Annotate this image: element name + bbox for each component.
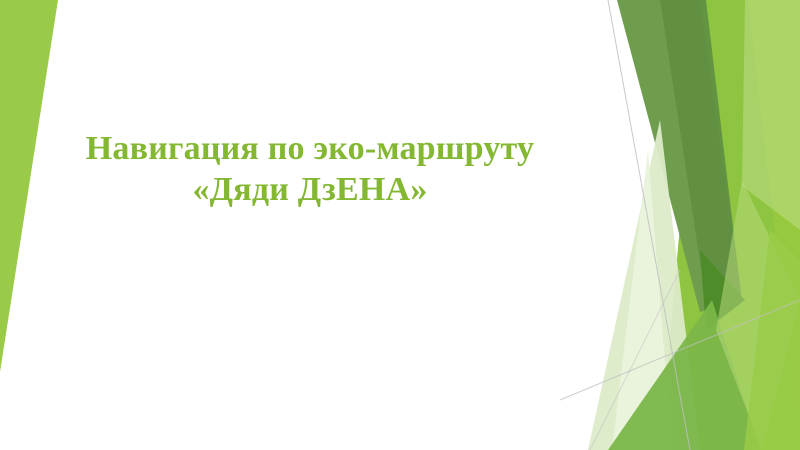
left-decoration-graphic <box>0 0 800 450</box>
title-slide: Навигация по эко-маршруту «Дяди ДзЕНА» <box>0 0 800 450</box>
facet-shape-light-overlay <box>716 180 800 450</box>
facet-shape-dark-wedge <box>660 0 742 302</box>
facet-shape-yellow-band <box>660 0 800 450</box>
hairline-diagonal-bottom <box>560 300 800 400</box>
facet-shape-pale-triangle <box>588 120 700 450</box>
facet-shape-pale-sliver <box>612 150 672 450</box>
facet-shape-dark-triangle <box>700 250 745 330</box>
title-line-1: Навигация по эко-маршруту <box>60 128 560 169</box>
left-green-wedge <box>0 0 58 372</box>
facet-shape-medium-wedge <box>617 0 742 312</box>
facet-shape-translucent-upper <box>742 0 800 230</box>
title-line-2: «Дяди ДзЕНА» <box>60 169 560 210</box>
hairline-diagonal-lower <box>590 270 680 450</box>
facet-shape-bright-bottom <box>744 230 800 450</box>
right-decoration-graphic <box>0 0 800 450</box>
hairline-diagonal-top <box>608 0 690 450</box>
facet-shape-base-bright <box>672 0 800 450</box>
title-text-block[interactable]: Навигация по эко-маршруту «Дяди ДзЕНА» <box>60 128 560 211</box>
facet-shape-mid-green-band <box>608 300 760 450</box>
